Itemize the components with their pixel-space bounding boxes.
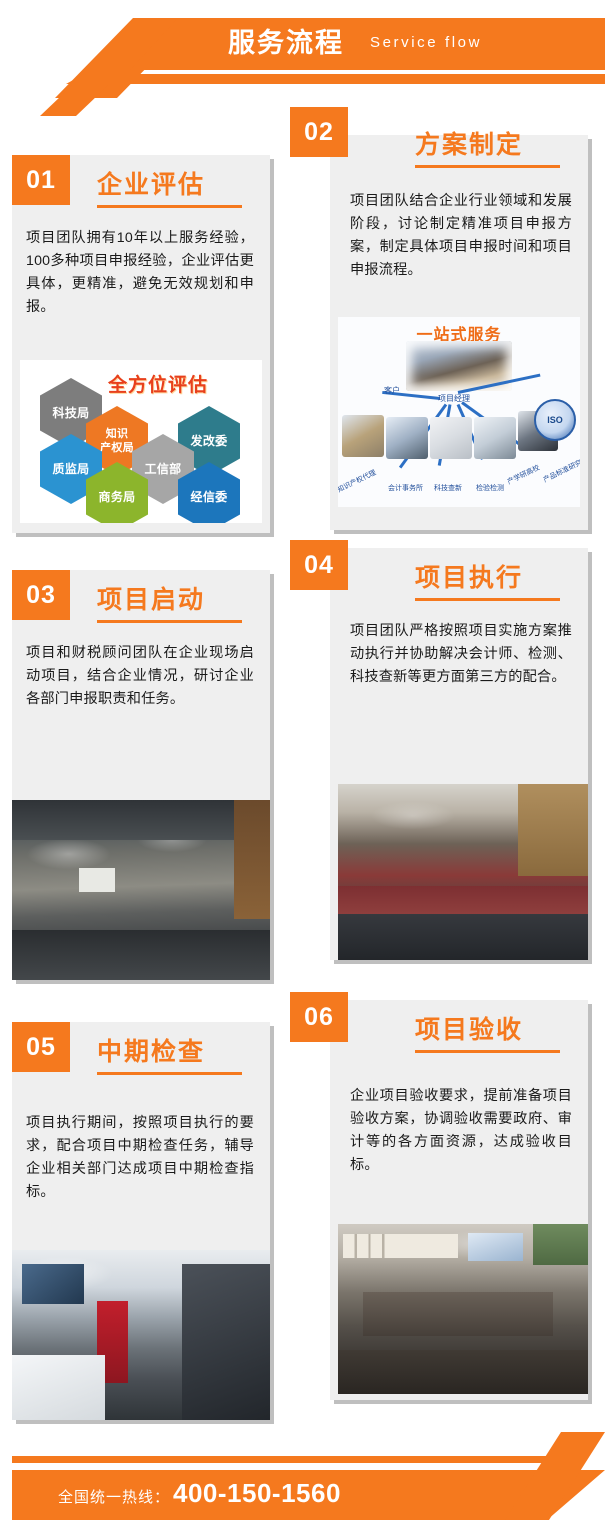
oss-service-label: 科技查新 [434,483,462,493]
oss-service-label: 检验检测 [476,483,504,493]
hotline-label: 全国统一热线： [58,1486,170,1507]
step-card-02: 02 方案制定 项目团队结合企业行业领域和发展阶段，讨论制定精准项目申报方案，制… [330,135,588,530]
page-header: 服务流程 Service flow [0,0,605,110]
title-underline [97,205,242,208]
title-underline [415,1050,560,1053]
step-description: 项目执行期间，按照项目执行的要求，配合项目中期检查任务，辅导企业相关部门达成项目… [26,1112,254,1204]
oss-service-label: 产学研高校 [506,463,542,487]
page-footer: 全国统一热线： 400-150-1560 [0,1418,605,1538]
oss-service-photo-ip [342,415,384,457]
assessment-hex-diagram: 全方位评估 科技局 知识产权局 发改委 质监局 工信部 商务局 经信委 [20,360,262,523]
title-underline [97,1072,242,1075]
photo-site-visit [12,1250,270,1420]
oss-service-photo-accounting [386,417,428,459]
page-subtitle: Service flow [370,34,482,51]
step-card-04: 04 项目执行 项目团队严格按照项目实施方案推动执行并协助解决会计师、检测、科技… [330,548,588,960]
step-number-badge: 01 [12,155,70,205]
step-card-06: 06 项目验收 企业项目验收要求，提前准备项目验收方案，协调验收需要政府、审计等… [330,1000,588,1400]
step-description: 项目和财税顾问团队在企业现场启动项目，结合企业情况，研讨企业各部门申报职责和任务… [26,642,254,711]
step-title: 企业评估 [97,165,205,201]
header-orange-bar [130,18,605,70]
oss-service-photo-testing [474,417,516,459]
step-card-01: 01 企业评估 项目团队拥有10年以上服务经验，100多种项目申报经验，企业评估… [12,155,270,533]
header-stripe [66,74,605,84]
photo-boardroom-meeting [12,800,270,980]
page-title: 服务流程 [228,24,344,62]
title-underline [415,165,560,168]
title-underline [415,598,560,601]
step-title: 项目执行 [415,558,523,594]
step-description: 项目团队结合企业行业领域和发展阶段，讨论制定精准项目申报方案，制定具体项目申报时… [350,190,572,282]
oss-client-label: 客户 [384,385,400,396]
step-number-badge: 02 [290,107,348,157]
step-title: 项目验收 [415,1010,523,1046]
step-card-05: 05 中期检查 项目执行期间，按照项目执行的要求，配合项目中期检查任务，辅导企业… [12,1022,270,1420]
photo-working-session [338,784,588,960]
step-description: 项目团队严格按照项目实施方案推动执行并协助解决会计师、检测、科技查新等更方面第三… [350,620,572,689]
hotline-number: 400-150-1560 [173,1478,341,1509]
service-flow-poster: 服务流程 Service flow 01 企业评估 项目团队拥有10年以上服务经… [0,0,605,1538]
oss-certification-seal: ISO [534,399,576,441]
title-underline [97,620,242,623]
oss-service-label: 产品标准研究 [542,458,580,485]
step-number-badge: 04 [290,540,348,590]
oss-center-label: 项目经理 [438,393,470,404]
step-number-badge: 05 [12,1022,70,1072]
step-number-badge: 06 [290,992,348,1042]
hotline-block: 全国统一热线： 400-150-1560 [58,1478,341,1509]
step-title: 方案制定 [415,125,523,161]
oss-service-label: 知识产权代理 [338,468,378,495]
photo-acceptance-meeting [338,1224,588,1394]
one-stop-service-diagram: 一站式服务 客户 项目经理 ISO 知识产权代理 会计事务所 科技查新 检验检测 [338,317,580,507]
step-title: 中期检查 [97,1032,205,1068]
step-card-03: 03 项目启动 项目和财税顾问团队在企业现场启动项目，结合企业情况，研讨企业各部… [12,570,270,980]
oss-service-photo-research [430,417,472,459]
oss-service-label: 会计事务所 [388,483,423,493]
step-description: 项目团队拥有10年以上服务经验，100多种项目申报经验，企业评估更具体，更精准，… [26,227,254,319]
step-number-badge: 03 [12,570,70,620]
step-title: 项目启动 [97,580,205,616]
footer-thin-stripe [12,1456,569,1463]
hex-diagram-title: 全方位评估 [108,370,208,397]
step-description: 企业项目验收要求，提前准备项目验收方案，协调验收需要政府、审计等的各方面资源，达… [350,1085,572,1177]
